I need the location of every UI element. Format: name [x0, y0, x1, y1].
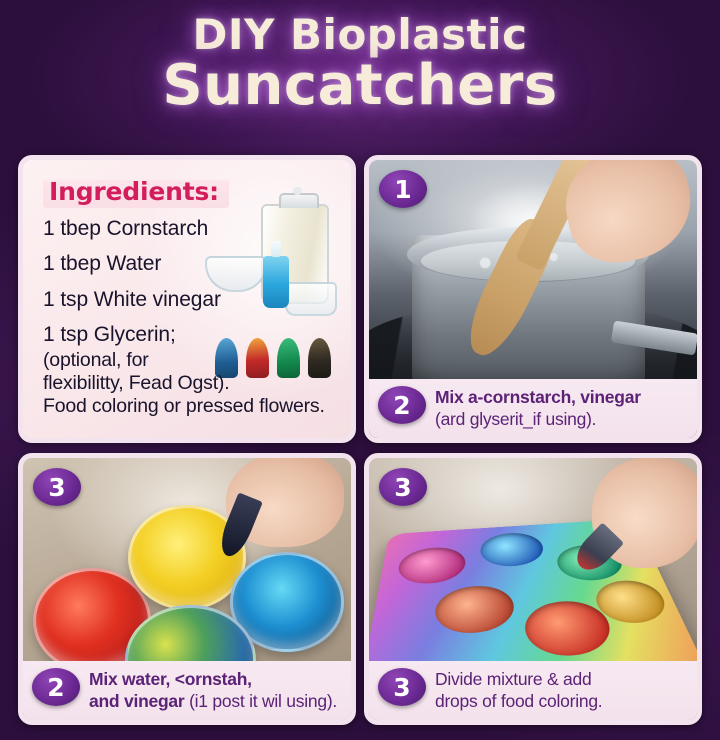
ingredient-note-3: Food coloring or pressed flowers.	[43, 395, 333, 418]
panel-stove: 1 2 Mix a-cornstarch, vinegar (ard glyse…	[364, 155, 702, 443]
ingredients-list: 1 tbep Cornstarch 1 tbep Water 1 tsp Whi…	[43, 218, 333, 418]
caption-line-2-normal: (i1 post it wil using).	[184, 691, 337, 711]
caption-text: Mix a-cornstarch, vinegar (ard glyserit_…	[435, 386, 641, 430]
caption-text: Divide mixture & add drops of food color…	[435, 668, 602, 712]
caption-line-1: Mix a-cornstarch, vinegar	[435, 387, 641, 408]
page-title: DIY Bioplastic Suncatchers	[0, 14, 720, 114]
panel-mold-caption: 3 Divide mixture & add drops of food col…	[369, 661, 697, 720]
caption-line-1: Divide mixture & add	[435, 669, 602, 690]
step-badge-caption: 2	[32, 668, 80, 706]
ingredient-item-2: 1 tbep Water	[43, 253, 333, 274]
caption-line-2: drops of food coloring.	[435, 691, 602, 712]
step-badge-caption: 2	[378, 386, 426, 424]
ingredient-item-4: 1 tsp Glycerin;	[43, 324, 333, 345]
step-badge-photo: 1	[379, 170, 427, 208]
ingredient-note-2: flexibilitty, Fead Ogst).	[43, 372, 333, 395]
caption-line-1: Mix water, <ornstah,	[89, 669, 337, 690]
panel-bowls-caption: 2 Mix water, <ornstah, and vinegar (i1 p…	[23, 661, 351, 720]
ingredient-item-1: 1 tbep Cornstarch	[43, 218, 333, 239]
recipe-panel-grid: Ingredients: 1 tbep Cornstarch 1 tbep Wa…	[18, 155, 702, 725]
ingredients-panel: Ingredients: 1 tbep Cornstarch 1 tbep Wa…	[18, 155, 356, 443]
panel-mold: 3 3 Divide mixture & add drops of food c…	[364, 453, 702, 725]
caption-line-2: (ard glyserit_if using).	[435, 409, 641, 430]
caption-line-2: and vinegar (i1 post it wil using).	[89, 691, 337, 712]
step-badge-photo: 3	[33, 468, 81, 506]
caption-line-2-bold: and vinegar	[89, 691, 184, 711]
ingredient-note-1: (optional, for	[43, 349, 333, 372]
caption-text: Mix water, <ornstah, and vinegar (i1 pos…	[89, 668, 337, 712]
step-badge-photo: 3	[379, 468, 427, 506]
panel-stove-caption: 2 Mix a-cornstarch, vinegar (ard glyseri…	[369, 379, 697, 438]
ingredients-card: Ingredients: 1 tbep Cornstarch 1 tbep Wa…	[23, 160, 351, 438]
ingredient-item-3: 1 tsp White vinegar	[43, 289, 333, 310]
mold-cavity-pink	[396, 546, 465, 586]
step-badge-caption: 3	[378, 668, 426, 706]
title-line-2: Suncatchers	[0, 58, 720, 114]
panel-bowls: 3 2 Mix water, <ornstah, and vinegar (i1…	[18, 453, 356, 725]
mold-cavity-orange	[434, 583, 516, 636]
ingredients-heading: Ingredients:	[43, 176, 229, 208]
title-line-1: DIY Bioplastic	[0, 14, 720, 56]
mold-cavity-blue	[480, 531, 547, 568]
